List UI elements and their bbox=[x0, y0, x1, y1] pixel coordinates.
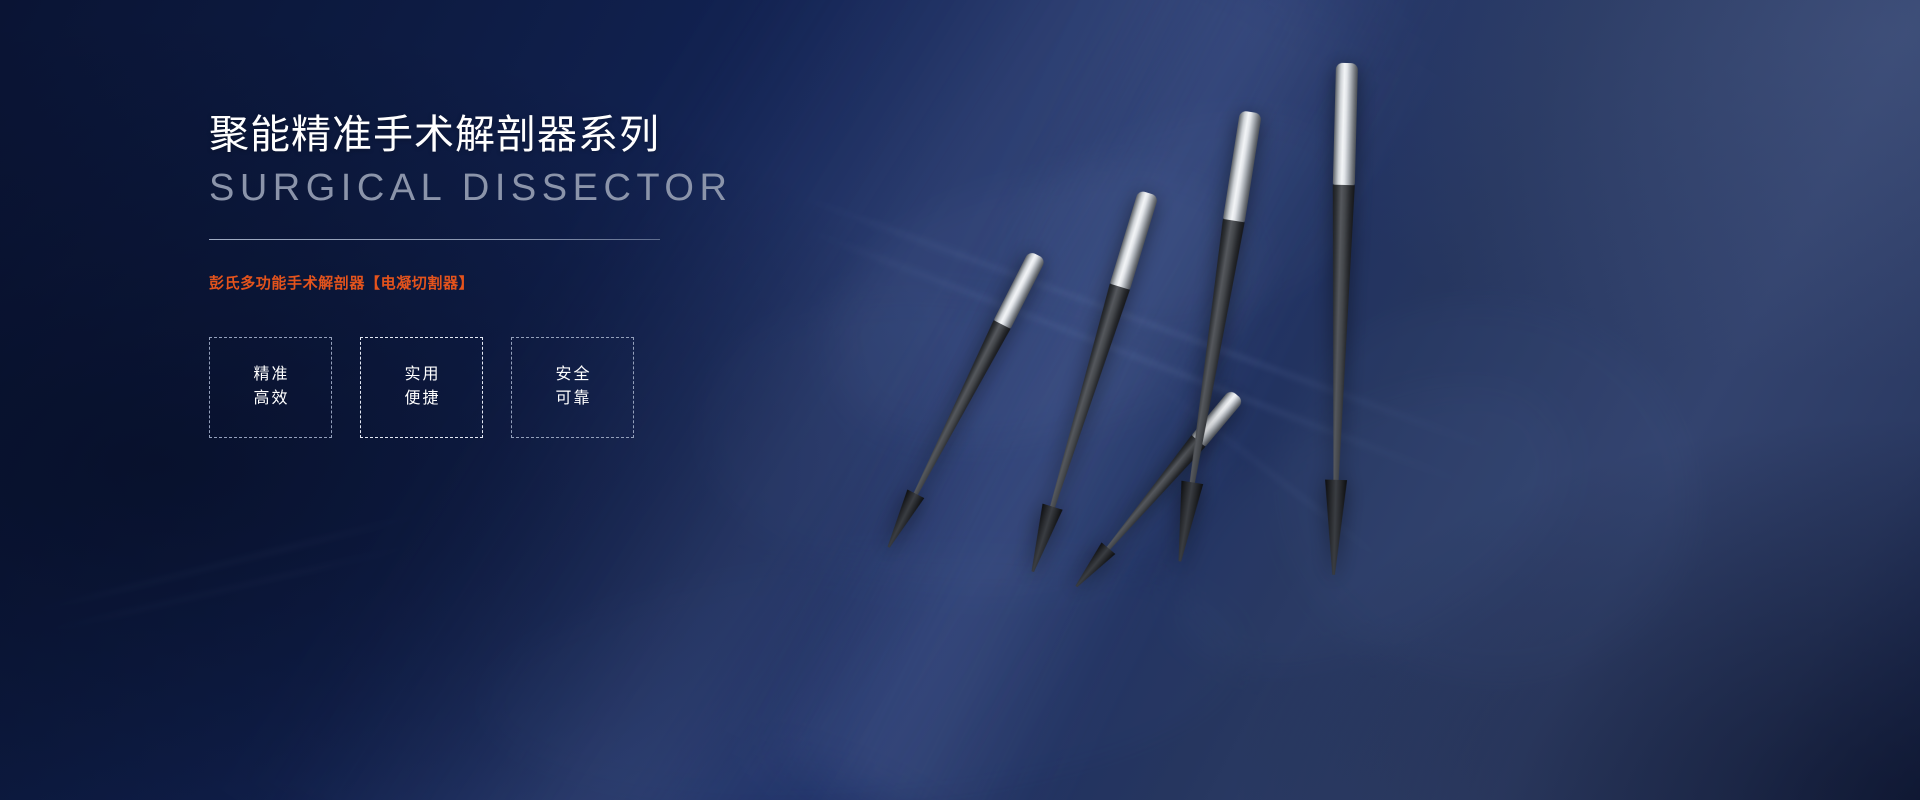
product-name-label: 彭氏多功能手术解剖器【电凝切割器】 bbox=[209, 273, 929, 294]
page-subtitle-english: SURGICAL DISSECTOR bbox=[209, 167, 929, 211]
feature-badge-line2: 便捷 bbox=[402, 391, 440, 407]
feature-badge-safety[interactable]: 安全 可靠 bbox=[511, 337, 634, 438]
feature-badge-precision[interactable]: 精准 高效 bbox=[209, 337, 332, 438]
hero-text-block: 聚能精准手术解剖器系列 SURGICAL DISSECTOR 彭氏多功能手术解剖… bbox=[209, 112, 929, 438]
feature-badge-line1: 安全 bbox=[553, 367, 591, 383]
feature-badges: 精准 高效 实用 便捷 安全 可靠 bbox=[209, 337, 929, 438]
divider bbox=[209, 239, 660, 240]
feature-badge-line2: 高效 bbox=[251, 391, 289, 407]
feature-badge-line1: 精准 bbox=[251, 367, 289, 383]
feature-badge-practical[interactable]: 实用 便捷 bbox=[360, 337, 483, 438]
feature-badge-line2: 可靠 bbox=[553, 391, 591, 407]
page-title: 聚能精准手术解剖器系列 bbox=[209, 112, 929, 159]
product-hero-banner: 聚能精准手术解剖器系列 SURGICAL DISSECTOR 彭氏多功能手术解剖… bbox=[0, 0, 1920, 800]
feature-badge-line1: 实用 bbox=[402, 367, 440, 383]
